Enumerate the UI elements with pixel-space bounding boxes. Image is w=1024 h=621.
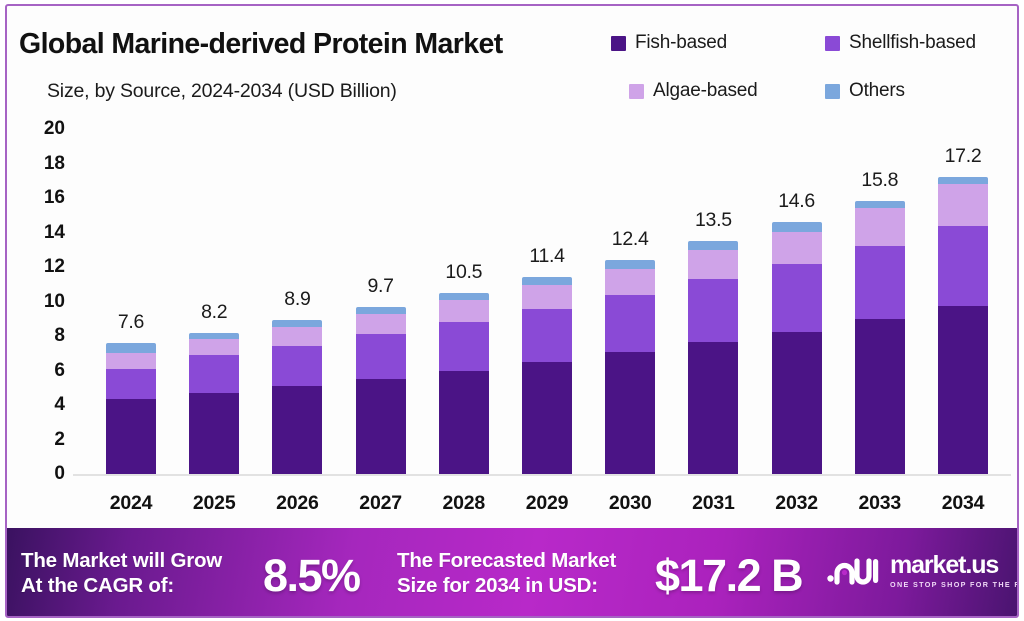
stacked-bar[interactable]: [688, 241, 738, 474]
x-axis-label-2034: 2034: [942, 492, 985, 515]
bar-value-label: 8.2: [201, 301, 227, 324]
y-axis-tick-label: 10: [19, 291, 65, 313]
bar-segment-others[interactable]: [772, 222, 822, 231]
legend-item-label: Others: [849, 80, 905, 102]
bar-segment-others[interactable]: [189, 333, 239, 339]
bar-segment-fish-based[interactable]: [938, 306, 988, 474]
x-axis-label-2024: 2024: [110, 492, 153, 515]
summary-banner: The Market will Grow At the CAGR of: 8.5…: [7, 528, 1017, 616]
page-title: Global Marine-derived Protein Market: [19, 28, 503, 61]
bar-segment-algae-based[interactable]: [772, 232, 822, 264]
bar-segment-others[interactable]: [688, 241, 738, 250]
stacked-bar[interactable]: [772, 222, 822, 474]
y-axis-tick-label: 4: [19, 394, 65, 416]
x-axis-label-2027: 2027: [359, 492, 402, 515]
bar-segment-fish-based[interactable]: [772, 332, 822, 474]
stacked-bar[interactable]: [272, 320, 322, 474]
bar-segment-algae-based[interactable]: [356, 314, 406, 335]
y-axis-tick-label: 20: [19, 118, 65, 140]
bar-group-2029[interactable]: 11.42029: [522, 118, 572, 526]
market-us-logo[interactable]: market.us ONE STOP SHOP FOR THE REPORTS: [827, 553, 1017, 589]
forecast-size-value: $17.2 B: [655, 550, 802, 602]
market-us-logo-icon: [827, 554, 881, 588]
bar-group-2026[interactable]: 8.92026: [272, 118, 322, 526]
forecast-size-label-line1: The Forecasted Market: [397, 549, 616, 572]
bar-segment-shellfish-based[interactable]: [605, 295, 655, 352]
x-axis-label-2026: 2026: [276, 492, 319, 515]
forecast-size-label-line2: Size for 2034 in USD:: [397, 574, 598, 597]
stacked-bar[interactable]: [106, 343, 156, 474]
bar-segment-fish-based[interactable]: [272, 386, 322, 474]
stacked-bar[interactable]: [189, 333, 239, 474]
infographic-frame: Global Marine-derived Protein Market Siz…: [5, 4, 1019, 618]
legend-item-others[interactable]: Others: [825, 80, 905, 102]
bar-segment-algae-based[interactable]: [938, 184, 988, 225]
bar-group-2034[interactable]: 17.22034: [938, 118, 988, 526]
bar-segment-shellfish-based[interactable]: [855, 246, 905, 318]
bar-segment-others[interactable]: [439, 293, 489, 300]
bar-value-label: 9.7: [367, 275, 393, 298]
y-axis-tick-label: 2: [19, 429, 65, 451]
logo-tagline: ONE STOP SHOP FOR THE REPORTS: [890, 580, 1017, 589]
y-axis-tick-label: 6: [19, 360, 65, 382]
bar-segment-algae-based[interactable]: [605, 269, 655, 296]
x-axis-label-2030: 2030: [609, 492, 652, 515]
y-axis-tick-label: 12: [19, 256, 65, 278]
legend-swatch-icon: [825, 36, 840, 51]
bar-segment-algae-based[interactable]: [189, 339, 239, 355]
logo-wordmark: market.us: [890, 553, 1017, 578]
bar-segment-others[interactable]: [106, 343, 156, 353]
legend-item-algae-based[interactable]: Algae-based: [629, 80, 758, 102]
stacked-bar[interactable]: [855, 201, 905, 474]
y-axis-tick-label: 18: [19, 153, 65, 175]
cagr-label-line2: At the CAGR of:: [21, 574, 174, 597]
y-axis-ticks: 02468101214161820: [19, 118, 65, 526]
forecast-size-label: The Forecasted Market Size for 2034 in U…: [397, 548, 616, 598]
stacked-bar[interactable]: [522, 277, 572, 474]
bar-segment-shellfish-based[interactable]: [356, 334, 406, 379]
legend-swatch-icon: [611, 36, 626, 51]
bar-series-container: 7.620248.220258.920269.7202710.5202811.4…: [73, 118, 1013, 526]
bar-segment-algae-based[interactable]: [855, 208, 905, 246]
infographic-root: Global Marine-derived Protein Market Siz…: [0, 0, 1024, 621]
bar-value-label: 11.4: [529, 245, 564, 268]
bar-group-2027[interactable]: 9.72027: [356, 118, 406, 526]
bar-segment-fish-based[interactable]: [522, 362, 572, 474]
bar-segment-shellfish-based[interactable]: [938, 226, 988, 306]
bar-group-2025[interactable]: 8.22025: [189, 118, 239, 526]
x-axis-label-2033: 2033: [859, 492, 902, 515]
bar-segment-algae-based[interactable]: [272, 327, 322, 345]
page-subtitle: Size, by Source, 2024-2034 (USD Billion): [47, 80, 397, 103]
legend-item-fish-based[interactable]: Fish-based: [611, 32, 727, 54]
bar-segment-others[interactable]: [855, 201, 905, 208]
bar-segment-fish-based[interactable]: [605, 352, 655, 474]
bar-value-label: 14.6: [778, 190, 815, 213]
bar-value-label: 15.8: [861, 169, 898, 192]
bar-segment-fish-based[interactable]: [106, 399, 156, 474]
bar-group-2028[interactable]: 10.52028: [439, 118, 489, 526]
x-axis-label-2025: 2025: [193, 492, 236, 515]
bar-segment-others[interactable]: [522, 277, 572, 285]
bar-group-2032[interactable]: 14.62032: [772, 118, 822, 526]
bar-segment-fish-based[interactable]: [189, 393, 239, 474]
x-axis-label-2028: 2028: [443, 492, 486, 515]
cagr-label-line1: The Market will Grow: [21, 549, 222, 572]
y-axis-tick-label: 0: [19, 463, 65, 485]
bar-segment-fish-based[interactable]: [855, 319, 905, 474]
bar-group-2031[interactable]: 13.52031: [688, 118, 738, 526]
bar-group-2030[interactable]: 12.42030: [605, 118, 655, 526]
legend-swatch-icon: [825, 84, 840, 99]
stacked-bar[interactable]: [938, 177, 988, 474]
bar-segment-shellfish-based[interactable]: [106, 369, 156, 399]
bar-segment-algae-based[interactable]: [439, 300, 489, 322]
legend-item-label: Fish-based: [635, 32, 727, 54]
bar-value-label: 13.5: [695, 209, 732, 232]
bar-segment-algae-based[interactable]: [106, 353, 156, 369]
stacked-bar[interactable]: [356, 307, 406, 474]
bar-segment-fish-based[interactable]: [439, 371, 489, 475]
bar-segment-shellfish-based[interactable]: [272, 346, 322, 387]
bar-value-label: 17.2: [945, 145, 982, 168]
legend-item-label: Algae-based: [653, 80, 758, 102]
stacked-bar[interactable]: [605, 260, 655, 474]
bar-segment-others[interactable]: [938, 177, 988, 184]
header: Global Marine-derived Protein Market Siz…: [7, 6, 1017, 118]
bar-segment-others[interactable]: [605, 260, 655, 269]
bar-segment-others[interactable]: [272, 320, 322, 327]
cagr-value: 8.5%: [263, 550, 360, 602]
bar-segment-shellfish-based[interactable]: [439, 322, 489, 370]
bar-value-label: 12.4: [612, 228, 649, 251]
cagr-label: The Market will Grow At the CAGR of:: [21, 548, 222, 598]
chart-legend: Fish-basedShellfish-basedAlgae-basedOthe…: [607, 32, 1001, 112]
x-axis-label-2029: 2029: [526, 492, 569, 515]
bar-segment-shellfish-based[interactable]: [522, 309, 572, 362]
bar-segment-shellfish-based[interactable]: [189, 355, 239, 393]
bar-segment-algae-based[interactable]: [522, 285, 572, 309]
bar-value-label: 7.6: [118, 311, 144, 334]
y-axis-tick-label: 8: [19, 325, 65, 347]
bar-segment-algae-based[interactable]: [688, 250, 738, 279]
x-axis-label-2031: 2031: [692, 492, 735, 515]
bar-segment-others[interactable]: [356, 307, 406, 314]
bar-value-label: 10.5: [445, 261, 482, 284]
legend-swatch-icon: [629, 84, 644, 99]
bar-segment-shellfish-based[interactable]: [688, 279, 738, 342]
bar-segment-shellfish-based[interactable]: [772, 264, 822, 332]
legend-item-shellfish-based[interactable]: Shellfish-based: [825, 32, 976, 54]
bar-group-2033[interactable]: 15.82033: [855, 118, 905, 526]
stacked-bar[interactable]: [439, 293, 489, 474]
bar-segment-fish-based[interactable]: [356, 379, 406, 474]
bar-segment-fish-based[interactable]: [688, 342, 738, 474]
legend-item-label: Shellfish-based: [849, 32, 976, 54]
chart-plot-area: 02468101214161820 7.620248.220258.920269…: [7, 118, 1019, 526]
y-axis-tick-label: 14: [19, 222, 65, 244]
market-us-logo-text: market.us ONE STOP SHOP FOR THE REPORTS: [890, 553, 1017, 589]
bar-group-2024[interactable]: 7.62024: [106, 118, 156, 526]
x-axis-label-2032: 2032: [775, 492, 818, 515]
bar-value-label: 8.9: [284, 288, 310, 311]
y-axis-tick-label: 16: [19, 187, 65, 209]
